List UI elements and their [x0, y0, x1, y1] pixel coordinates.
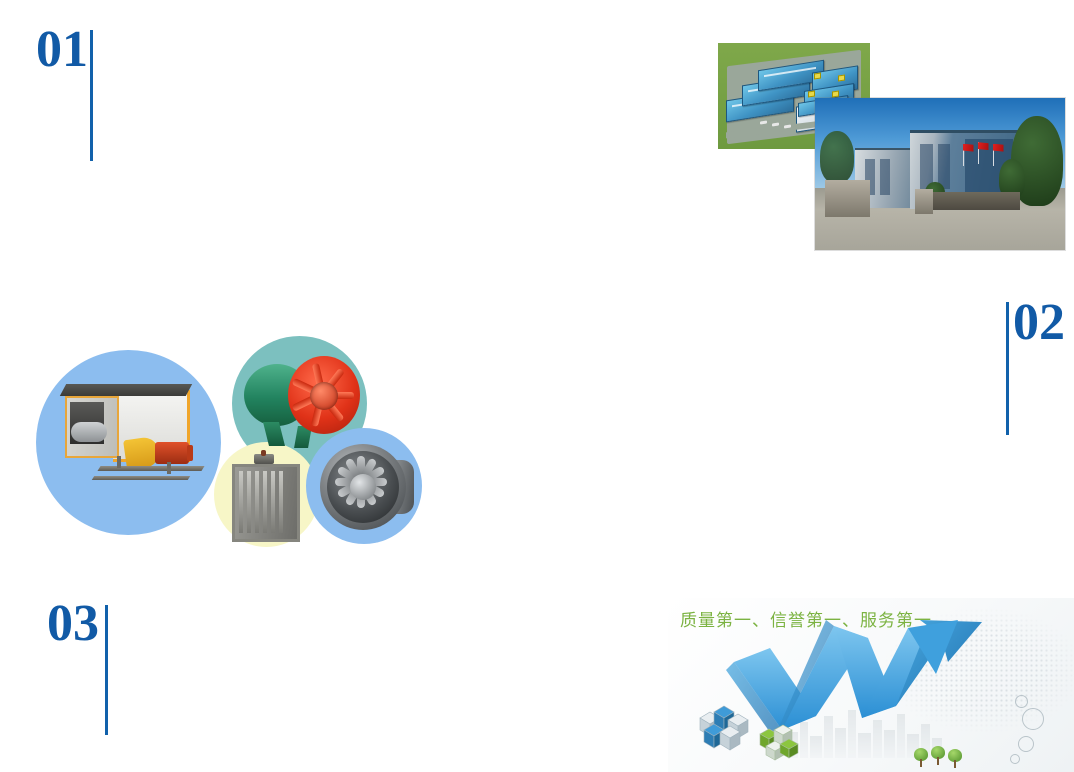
cabinet-top	[60, 384, 192, 396]
section-rule-01	[90, 30, 93, 161]
product-fire-damper	[232, 454, 296, 540]
yard-marker	[808, 90, 815, 97]
damper-slat	[255, 471, 259, 533]
section-number-02: 02	[1013, 297, 1065, 349]
yard-marker	[832, 90, 839, 97]
cube-icon	[696, 700, 754, 754]
section-number-03: 03	[47, 598, 99, 650]
yard-marker	[814, 72, 821, 79]
turbo-hub	[350, 474, 376, 500]
section-number-01: 01	[36, 24, 88, 76]
damper-slat	[271, 471, 275, 533]
slogan-text: 质量第一、信誉第一、服务第一	[680, 606, 932, 631]
product-metal-turbo-fan	[316, 440, 420, 536]
section-rule-02	[1006, 302, 1009, 435]
flag-icon	[978, 142, 989, 150]
base-leg	[167, 462, 171, 474]
yard-marker	[838, 74, 845, 81]
base-rail	[92, 476, 190, 480]
damper-slat	[247, 471, 251, 533]
tree-icon	[820, 131, 854, 183]
perimeter-wall	[930, 192, 1020, 210]
fan-wheel	[71, 422, 107, 442]
section-rule-03	[105, 605, 108, 735]
gate-kiosk	[825, 180, 870, 216]
damper-slat	[263, 471, 267, 533]
flag-icon	[963, 144, 974, 152]
slide-canvas: 01	[0, 0, 1074, 772]
base-rail	[97, 466, 204, 471]
gate-post	[915, 189, 933, 213]
damper-slat	[279, 471, 283, 533]
base-leg	[117, 456, 121, 468]
product-cabinet-box-fan	[59, 382, 199, 492]
damper-slat	[239, 471, 243, 533]
product-collage	[34, 330, 424, 555]
cube-icon	[756, 720, 800, 762]
impeller-hub	[310, 382, 338, 410]
office-building-photo	[815, 98, 1065, 250]
growth-chart-graphic: 质量第一、信誉第一、服务第一	[668, 598, 1074, 772]
damper-actuator	[254, 454, 274, 464]
damper-frame	[232, 464, 300, 542]
flag-icon	[993, 144, 1004, 152]
window	[880, 159, 890, 195]
motor	[155, 442, 189, 464]
